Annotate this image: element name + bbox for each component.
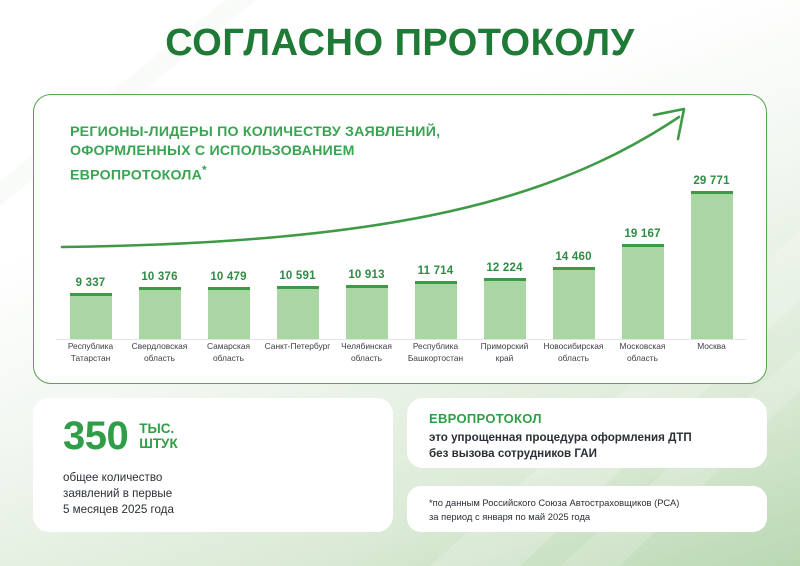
bars-plot-area: 9 33710 37610 47910 59110 91311 71412 22…: [56, 139, 746, 339]
chart-card: РЕГИОНЫ-ЛИДЕРЫ ПО КОЛИЧЕСТВУ ЗАЯВЛЕНИЙ, …: [33, 94, 767, 384]
bar-column: 11 714: [415, 265, 457, 339]
bar-shape: [484, 278, 526, 339]
x-axis-label: Новосибирская область: [539, 341, 608, 364]
bar-shape: [622, 244, 664, 339]
bar-column: 14 460: [553, 251, 595, 339]
bar-shape: [415, 281, 457, 339]
source-note-card: *по данным Российского Союза Автострахов…: [407, 486, 767, 532]
x-axis-label: Свердловская область: [125, 341, 194, 364]
bar-column: 10 479: [208, 271, 250, 339]
bar-value-label: 19 167: [624, 228, 660, 240]
bar-column: 10 376: [139, 271, 181, 339]
bar-column: 10 913: [346, 269, 388, 339]
bar-value-label: 9 337: [76, 277, 106, 289]
bar-value-label: 10 591: [279, 270, 315, 282]
x-axis-label: Республика Татарстан: [56, 341, 125, 364]
infographic-canvas: СОГЛАСНО ПРОТОКОЛУ РЕГИОНЫ-ЛИДЕРЫ ПО КОЛ…: [0, 0, 800, 566]
x-axis-label: Челябинская область: [332, 341, 401, 364]
bar-shape: [70, 293, 112, 339]
x-axis-label: Самарская область: [194, 341, 263, 364]
bar-value-label: 10 479: [210, 271, 246, 283]
x-axis-label: Москва: [677, 341, 746, 353]
page-title: СОГЛАСНО ПРОТОКОЛУ: [0, 22, 800, 65]
info-card-title: ЕВРОПРОТОКОЛ: [429, 411, 542, 426]
total-description: общее количество заявлений в первые 5 ме…: [63, 470, 174, 518]
bar-value-label: 12 224: [486, 262, 522, 274]
bar-column: 19 167: [622, 228, 664, 339]
bar-value-label: 11 714: [418, 265, 454, 277]
total-unit: ТЫС. ШТУК: [139, 421, 177, 451]
bar-shape: [553, 267, 595, 339]
total-applications-card: 350 ТЫС. ШТУК общее количество заявлений…: [33, 398, 393, 532]
bar-shape: [691, 191, 733, 339]
bar-shape: [277, 286, 319, 339]
bar-value-label: 10 376: [141, 271, 177, 283]
bar-shape: [139, 287, 181, 339]
total-number: 350: [63, 416, 128, 456]
x-axis-label: Московская область: [608, 341, 677, 364]
bar-column: 9 337: [70, 277, 112, 339]
info-card-text: это упрощенная процедура оформления ДТП …: [429, 430, 692, 461]
x-axis-label: Приморский край: [470, 341, 539, 364]
big-number-row: 350 ТЫС. ШТУК: [63, 416, 178, 456]
bar-column: 12 224: [484, 262, 526, 339]
x-axis-label: Республика Башкортостан: [401, 341, 470, 364]
bar-column: 29 771: [691, 175, 733, 339]
bar-value-label: 10 913: [348, 269, 384, 281]
x-axis-label: Санкт-Петербург: [263, 341, 332, 353]
bar-shape: [208, 287, 250, 339]
bar-value-label: 14 460: [555, 251, 591, 263]
source-note-text: *по данным Российского Союза Автострахов…: [429, 496, 679, 523]
bar-value-label: 29 771: [693, 175, 729, 187]
x-axis-labels: Республика ТатарстанСвердловская область…: [56, 341, 746, 375]
bar-column: 10 591: [277, 270, 319, 339]
bar-shape: [346, 285, 388, 339]
chart-baseline: [56, 339, 746, 340]
europrotocol-info-card: ЕВРОПРОТОКОЛ это упрощенная процедура оф…: [407, 398, 767, 468]
